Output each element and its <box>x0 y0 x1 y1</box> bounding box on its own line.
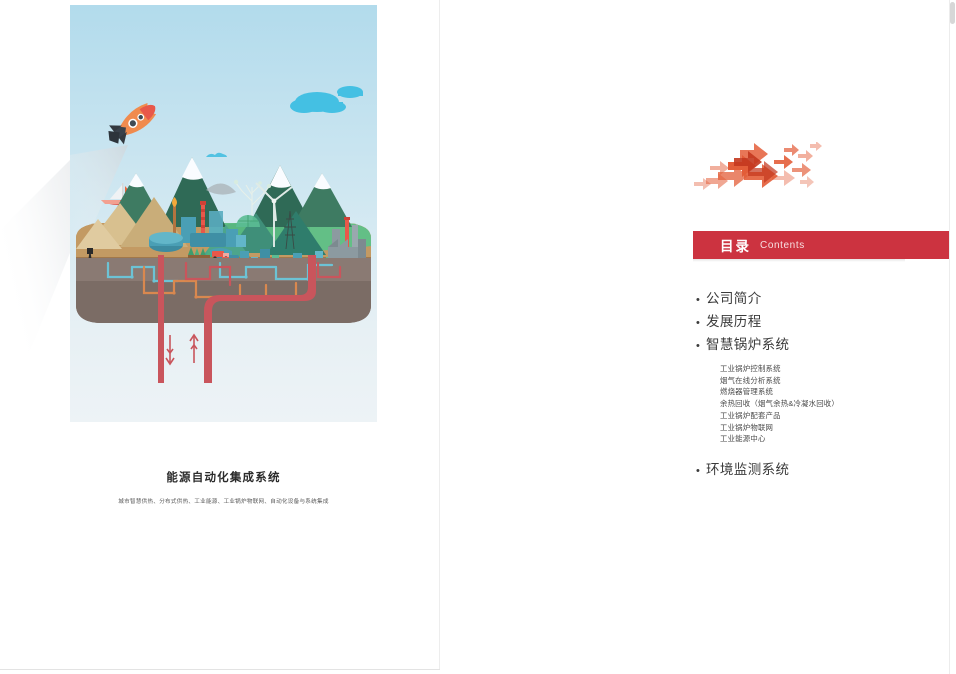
toc-subitem[interactable]: 余热回收（烟气余热&冷凝水回收） <box>696 398 951 410</box>
document-page: 能源自动化集成系统 城市智慧供热、分布式供热、工业能源、工业锅炉物联网、自动化设… <box>0 0 440 669</box>
toc-subitem[interactable]: 工业锅炉控制系统 <box>696 363 951 375</box>
contents-banner: 目录 Contents <box>693 231 953 259</box>
toc-subitem[interactable]: 工业能源中心 <box>696 433 951 445</box>
poster-subtitle: 城市智慧供热、分布式供热、工业能源、工业锅炉物联网、自动化设备与系统集成 <box>70 498 377 507</box>
contents-title-cn: 目录 <box>720 235 751 255</box>
toc-item-company-intro[interactable]: • 公司简介 <box>696 288 951 311</box>
toc-sublist-smart-boiler-system: 工业锅炉控制系统 烟气在线分析系统 燃烧器管理系统 余热回收（烟气余热&冷凝水回… <box>696 363 951 445</box>
toc-subitem[interactable]: 烟气在线分析系统 <box>696 375 951 387</box>
document-viewer-page: 能源自动化集成系统 城市智慧供热、分布式供热、工业能源、工业锅炉物联网、自动化设… <box>0 0 956 674</box>
table-of-contents: • 公司简介 • 发展历程 • 智慧锅炉系统 工业锅炉控制系统 烟气在线分析系统… <box>696 288 951 482</box>
toc-item-development-history[interactable]: • 发展历程 <box>696 311 951 334</box>
page-bottom-divider <box>0 669 440 670</box>
banner-shadow <box>693 259 905 262</box>
toc-item-label: 公司简介 <box>706 288 762 309</box>
toc-item-label: 智慧锅炉系统 <box>706 334 789 355</box>
bullet-icon: • <box>696 290 706 311</box>
contents-panel: 目录 Contents • 公司简介 • 发展历程 • 智慧锅炉系统 工业锅炉控… <box>660 0 956 674</box>
toc-item-label: 发展历程 <box>706 311 762 332</box>
bullet-icon: • <box>696 336 706 357</box>
poster-caption: 能源自动化集成系统 城市智慧供热、分布式供热、工业能源、工业锅炉物联网、自动化设… <box>70 470 377 507</box>
illustration-svg <box>70 5 377 422</box>
bullet-icon: • <box>696 313 706 334</box>
arrows-cluster-logo-icon <box>688 142 823 204</box>
toc-item-smart-boiler-system[interactable]: • 智慧锅炉系统 <box>696 334 951 357</box>
toc-subitem[interactable]: 工业锅炉配套产品 <box>696 410 951 422</box>
bullet-icon: • <box>696 461 706 482</box>
toc-subitem[interactable]: 燃烧器管理系统 <box>696 386 951 398</box>
toc-item-label: 环境监测系统 <box>706 459 789 480</box>
poster-title: 能源自动化集成系统 <box>70 470 377 486</box>
scrollbar-thumb[interactable] <box>950 2 955 24</box>
toc-item-environment-monitoring-system[interactable]: • 环境监测系统 <box>696 459 951 482</box>
vertical-scrollbar[interactable] <box>949 0 956 674</box>
contents-title-en: Contents <box>760 240 805 251</box>
poster-slide[interactable]: 能源自动化集成系统 城市智慧供热、分布式供热、工业能源、工业锅炉物联网、自动化设… <box>70 5 377 521</box>
toc-subitem[interactable]: 工业锅炉物联网 <box>696 422 951 434</box>
page-edge-divider <box>439 0 440 669</box>
poster-illustration <box>70 5 377 422</box>
